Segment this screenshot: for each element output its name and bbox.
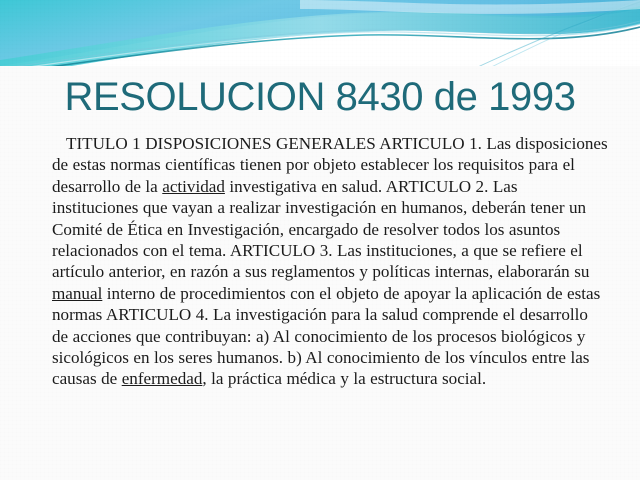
slide-title: RESOLUCION 8430 de 1993	[0, 76, 640, 118]
wave-header-graphic	[0, 0, 640, 78]
body-link-manual[interactable]: manual	[52, 284, 102, 303]
body-text-run-6: , la práctica médica y la estructura soc…	[202, 369, 486, 388]
presentation-slide: RESOLUCION 8430 de 1993 TITULO 1 DISPOSI…	[0, 0, 640, 480]
body-link-enfermedad[interactable]: enfermedad	[122, 369, 203, 388]
body-link-actividad[interactable]: actividad	[162, 177, 225, 196]
slide-body-text: TITULO 1 DISPOSICIONES GENERALES ARTICUL…	[52, 133, 608, 390]
